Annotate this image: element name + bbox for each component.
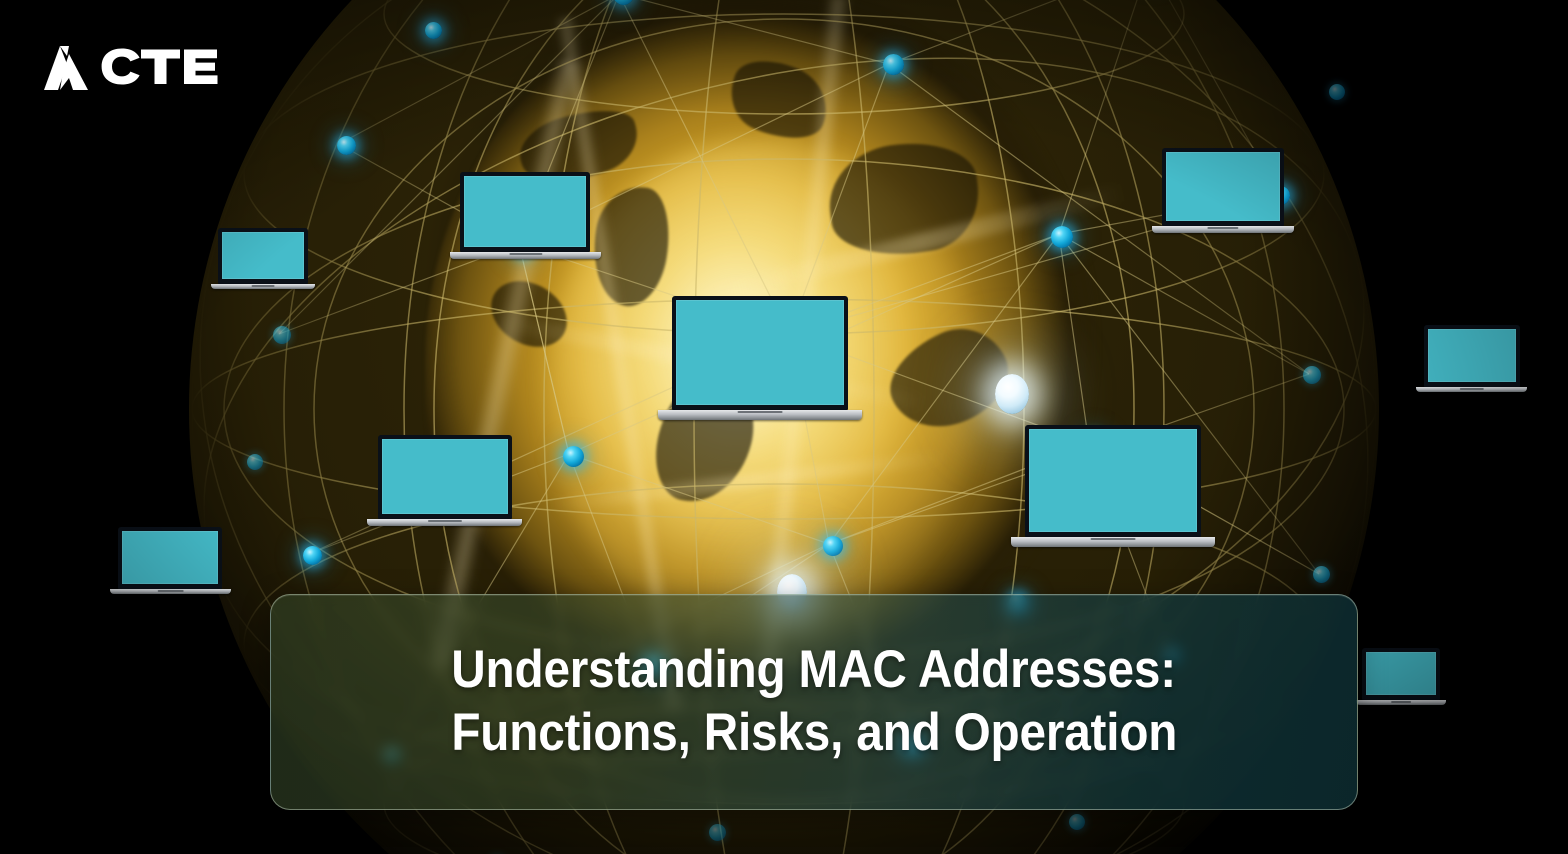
title-banner: Understanding MAC Addresses: Functions, … <box>270 594 1358 810</box>
laptop-top-right <box>1162 148 1284 233</box>
laptop-screen <box>118 527 222 589</box>
laptop-screen <box>1162 148 1284 226</box>
laptop-base <box>658 410 862 420</box>
network-node <box>1313 566 1330 583</box>
network-node <box>883 54 904 75</box>
laptop-screen <box>1025 425 1201 537</box>
laptop-right-edge <box>1424 325 1520 392</box>
network-node <box>1329 84 1345 100</box>
laptop-bottom-left <box>118 527 222 594</box>
laptop-screen <box>1424 325 1520 387</box>
network-node <box>823 536 843 556</box>
laptop-screen <box>460 172 590 252</box>
network-node <box>303 546 322 565</box>
laptop-base <box>1356 700 1446 705</box>
laptop-top-left <box>218 228 308 289</box>
laptop-mid-right <box>1025 425 1201 547</box>
laptop-base <box>450 252 601 259</box>
network-node <box>563 446 584 467</box>
network-node <box>273 326 291 344</box>
laptop-mid-left <box>378 435 512 526</box>
network-node <box>425 22 442 39</box>
network-node <box>709 824 726 841</box>
laptop-base <box>367 519 522 526</box>
network-node <box>1303 366 1321 384</box>
laptop-screen <box>218 228 308 284</box>
laptop-base <box>211 284 315 289</box>
laptop-center <box>672 296 848 420</box>
hero-banner-image: Understanding MAC Addresses: Functions, … <box>0 0 1568 854</box>
network-node <box>1069 814 1085 830</box>
network-node-bright <box>995 374 1029 414</box>
network-node <box>337 136 356 155</box>
laptop-base <box>1416 387 1527 392</box>
laptop-base <box>110 589 231 594</box>
laptop-screen <box>672 296 848 410</box>
title-line-2: Functions, Risks, and Operation <box>451 705 1177 762</box>
laptop-base <box>1152 226 1294 233</box>
network-node <box>1051 226 1073 248</box>
laptop-top-center <box>460 172 590 259</box>
laptop-screen <box>378 435 512 519</box>
laptop-bottom-right <box>1362 648 1440 705</box>
acte-logo[interactable] <box>36 32 226 94</box>
network-node <box>247 454 263 470</box>
laptop-base <box>1011 537 1215 547</box>
laptop-screen <box>1362 648 1440 700</box>
title-line-1: Understanding MAC Addresses: <box>452 642 1177 699</box>
